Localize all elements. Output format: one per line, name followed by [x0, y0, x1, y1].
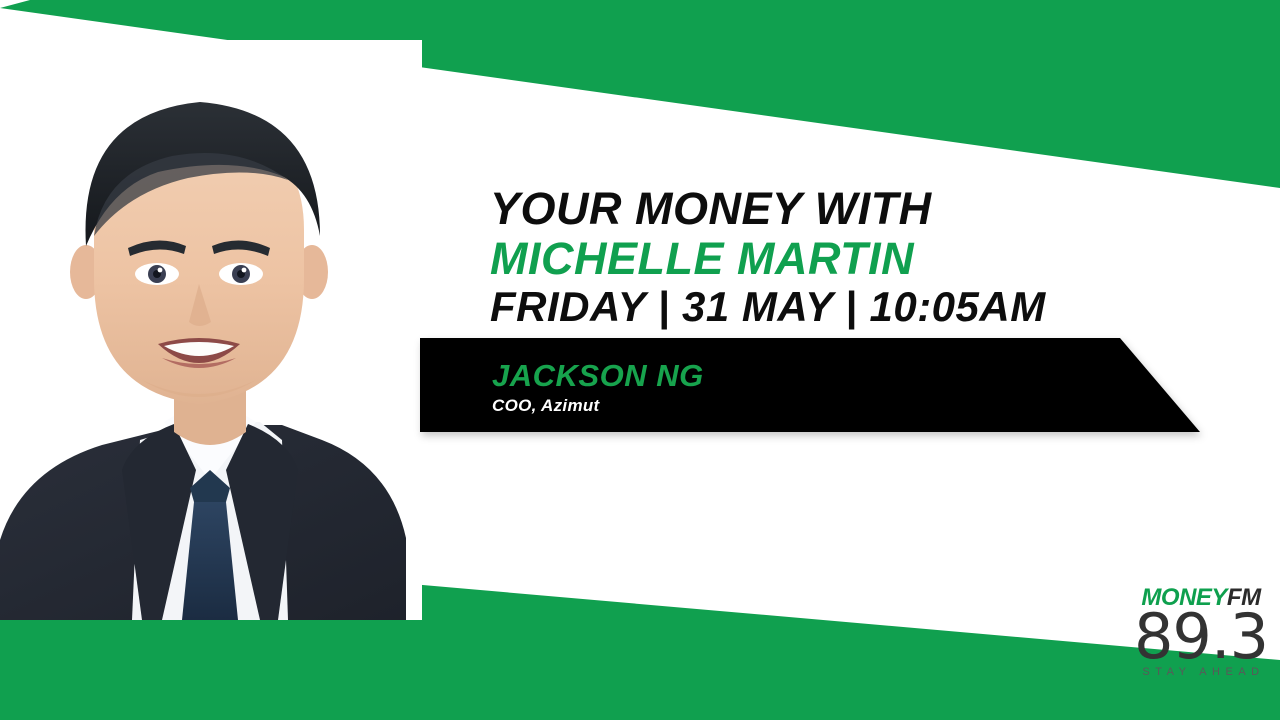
title-block: YOUR MONEY WITH MICHELLE MARTIN FRIDAY |… — [490, 186, 1130, 328]
show-title: YOUR MONEY WITH — [490, 186, 1130, 231]
logo-tagline: STAY AHEAD — [1128, 666, 1274, 678]
guest-portrait — [0, 40, 422, 620]
guest-banner: JACKSON NG COO, Azimut — [420, 338, 1200, 438]
station-logo: MONEYFM 89.3 STAY AHEAD — [1128, 586, 1274, 690]
schedule-line: FRIDAY | 31 MAY | 10:05AM — [490, 286, 1130, 328]
guest-text-group: JACKSON NG COO, Azimut — [492, 360, 704, 416]
guest-role: COO, Azimut — [492, 396, 704, 416]
host-name: MICHELLE MARTIN — [490, 236, 1130, 281]
promo-graphic: YOUR MONEY WITH MICHELLE MARTIN FRIDAY |… — [0, 0, 1280, 720]
logo-frequency: 89.3 — [1128, 608, 1274, 665]
portrait-illustration — [0, 40, 422, 620]
guest-name: JACKSON NG — [492, 360, 704, 393]
